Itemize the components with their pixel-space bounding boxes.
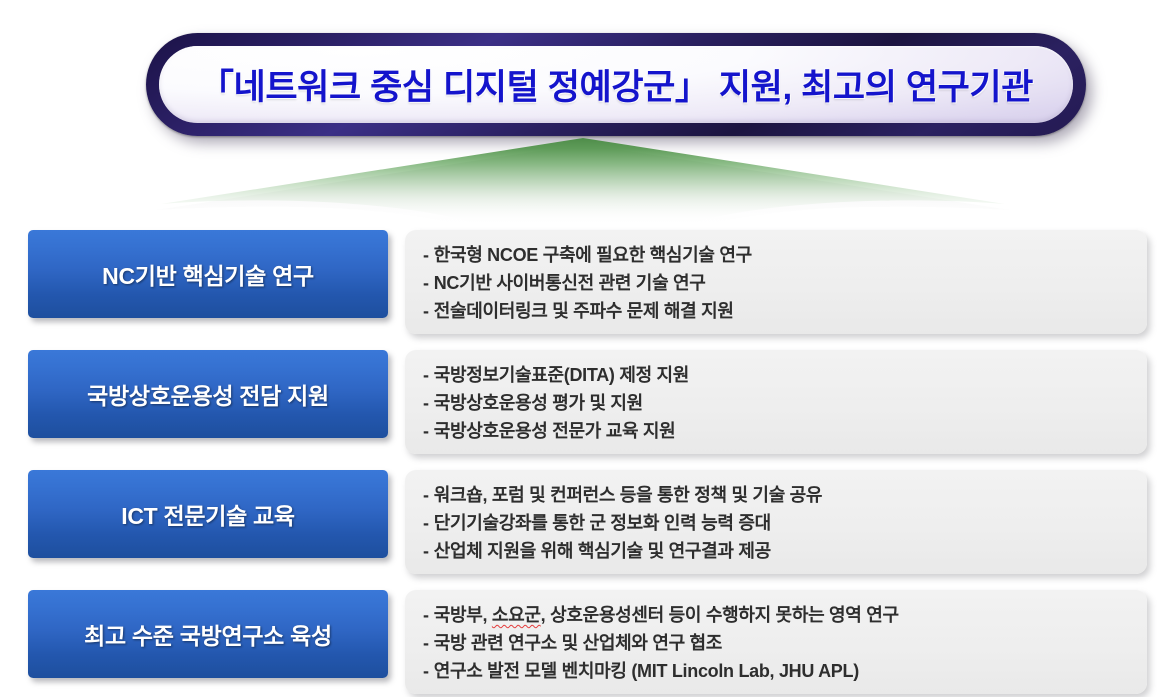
bullet-item: -국방 관련 연구소 및 산업체와 연구 협조 — [405, 629, 1147, 657]
detail-panel: -한국형 NCOE 구축에 필요한 핵심기술 연구 -NC기반 사이버통신전 관… — [405, 230, 1147, 334]
bullet-dash: - — [423, 417, 429, 445]
bullet-item: -연구소 발전 모델 벤치마킹 (MIT Lincoln Lab, JHU AP… — [405, 657, 1147, 685]
detail-panel: -국방부, 소요군, 상호운용성센터 등이 수행하지 못하는 영역 연구 -국방… — [405, 590, 1147, 694]
bullet-text: 워크숍, 포럼 및 컨퍼런스 등을 통한 정책 및 기술 공유 — [434, 485, 822, 505]
bullet-text-post: , 상호운용성센터 등이 수행하지 못하는 영역 연구 — [541, 605, 899, 625]
bullet-text: 국방상호운용성 전문가 교육 지원 — [434, 421, 676, 441]
bullet-item: -국방상호운용성 전문가 교육 지원 — [405, 417, 1147, 445]
bullet-item: -국방부, 소요군, 상호운용성센터 등이 수행하지 못하는 영역 연구 — [405, 601, 1147, 629]
bullet-dash: - — [423, 481, 429, 509]
bullet-text: 전술데이터링크 및 주파수 문제 해결 지원 — [434, 301, 734, 321]
bullet-dash: - — [423, 537, 429, 565]
bullet-dash: - — [423, 297, 429, 325]
category-label-box[interactable]: 최고 수준 국방연구소 육성 — [28, 590, 388, 678]
bullet-item: -워크숍, 포럼 및 컨퍼런스 등을 통한 정책 및 기술 공유 — [405, 481, 1147, 509]
bullet-dash: - — [423, 657, 429, 685]
bullet-text: 산업체 지원을 위해 핵심기술 및 연구결과 제공 — [434, 541, 771, 561]
bullet-text: 한국형 NCOE 구축에 필요한 핵심기술 연구 — [434, 245, 752, 265]
bullet-dash: - — [423, 389, 429, 417]
bullet-dash: - — [423, 601, 429, 629]
up-arrow-green-icon — [0, 132, 1166, 224]
bullet-item: -NC기반 사이버통신전 관련 기술 연구 — [405, 269, 1147, 297]
bullet-dash: - — [423, 629, 429, 657]
bullet-item: -산업체 지원을 위해 핵심기술 및 연구결과 제공 — [405, 537, 1147, 565]
category-label-box[interactable]: 국방상호운용성 전담 지원 — [28, 350, 388, 438]
bullet-item: -국방정보기술표준(DITA) 제정 지원 — [405, 361, 1147, 389]
bullet-item: -한국형 NCOE 구축에 필요한 핵심기술 연구 — [405, 241, 1147, 269]
bullet-text: NC기반 사이버통신전 관련 기술 연구 — [434, 273, 706, 293]
slide-canvas: 「네트워크 중심 디지털 정예강군」 지원, 최고의 연구기관 — [0, 0, 1166, 697]
bullet-dash: - — [423, 361, 429, 389]
category-label-text: 최고 수준 국방연구소 육성 — [84, 617, 332, 651]
bullet-item: -전술데이터링크 및 주파수 문제 해결 지원 — [405, 297, 1147, 325]
bullet-dash: - — [423, 269, 429, 297]
bullet-dash: - — [423, 509, 429, 537]
detail-panel: -워크숍, 포럼 및 컨퍼런스 등을 통한 정책 및 기술 공유 -단기기술강좌… — [405, 470, 1147, 574]
category-label-text: ICT 전문기술 교육 — [121, 497, 295, 531]
title-banner-ring: 「네트워크 중심 디지털 정예강군」 지원, 최고의 연구기관 — [146, 33, 1086, 136]
bullet-text: 연구소 발전 모델 벤치마킹 (MIT Lincoln Lab, JHU APL… — [434, 661, 859, 681]
bullet-item: -국방상호운용성 평가 및 지원 — [405, 389, 1147, 417]
title-banner-inner: 「네트워크 중심 디지털 정예강군」 지원, 최고의 연구기관 — [159, 46, 1073, 123]
category-label-text: 국방상호운용성 전담 지원 — [87, 377, 329, 411]
bullet-item: -단기기술강좌를 통한 군 정보화 인력 능력 증대 — [405, 509, 1147, 537]
bullet-text: 단기기술강좌를 통한 군 정보화 인력 능력 증대 — [434, 513, 771, 533]
bullet-text: 국방정보기술표준(DITA) 제정 지원 — [434, 365, 689, 385]
category-label-text: NC기반 핵심기술 연구 — [102, 257, 314, 291]
category-label-box[interactable]: ICT 전문기술 교육 — [28, 470, 388, 558]
detail-panel: -국방정보기술표준(DITA) 제정 지원 -국방상호운용성 평가 및 지원 -… — [405, 350, 1147, 454]
bullet-text: 국방상호운용성 평가 및 지원 — [434, 393, 643, 413]
category-label-box[interactable]: NC기반 핵심기술 연구 — [28, 230, 388, 318]
title-banner: 「네트워크 중심 디지털 정예강군」 지원, 최고의 연구기관 — [146, 33, 1086, 136]
spellcheck-error-text: 소요군 — [492, 605, 541, 625]
bullet-text-pre: 국방부, — [434, 605, 492, 625]
page-title: 「네트워크 중심 디지털 정예강군」 지원, 최고의 연구기관 — [199, 59, 1033, 110]
bullet-dash: - — [423, 241, 429, 269]
bullet-text: 국방 관련 연구소 및 산업체와 연구 협조 — [434, 633, 722, 653]
